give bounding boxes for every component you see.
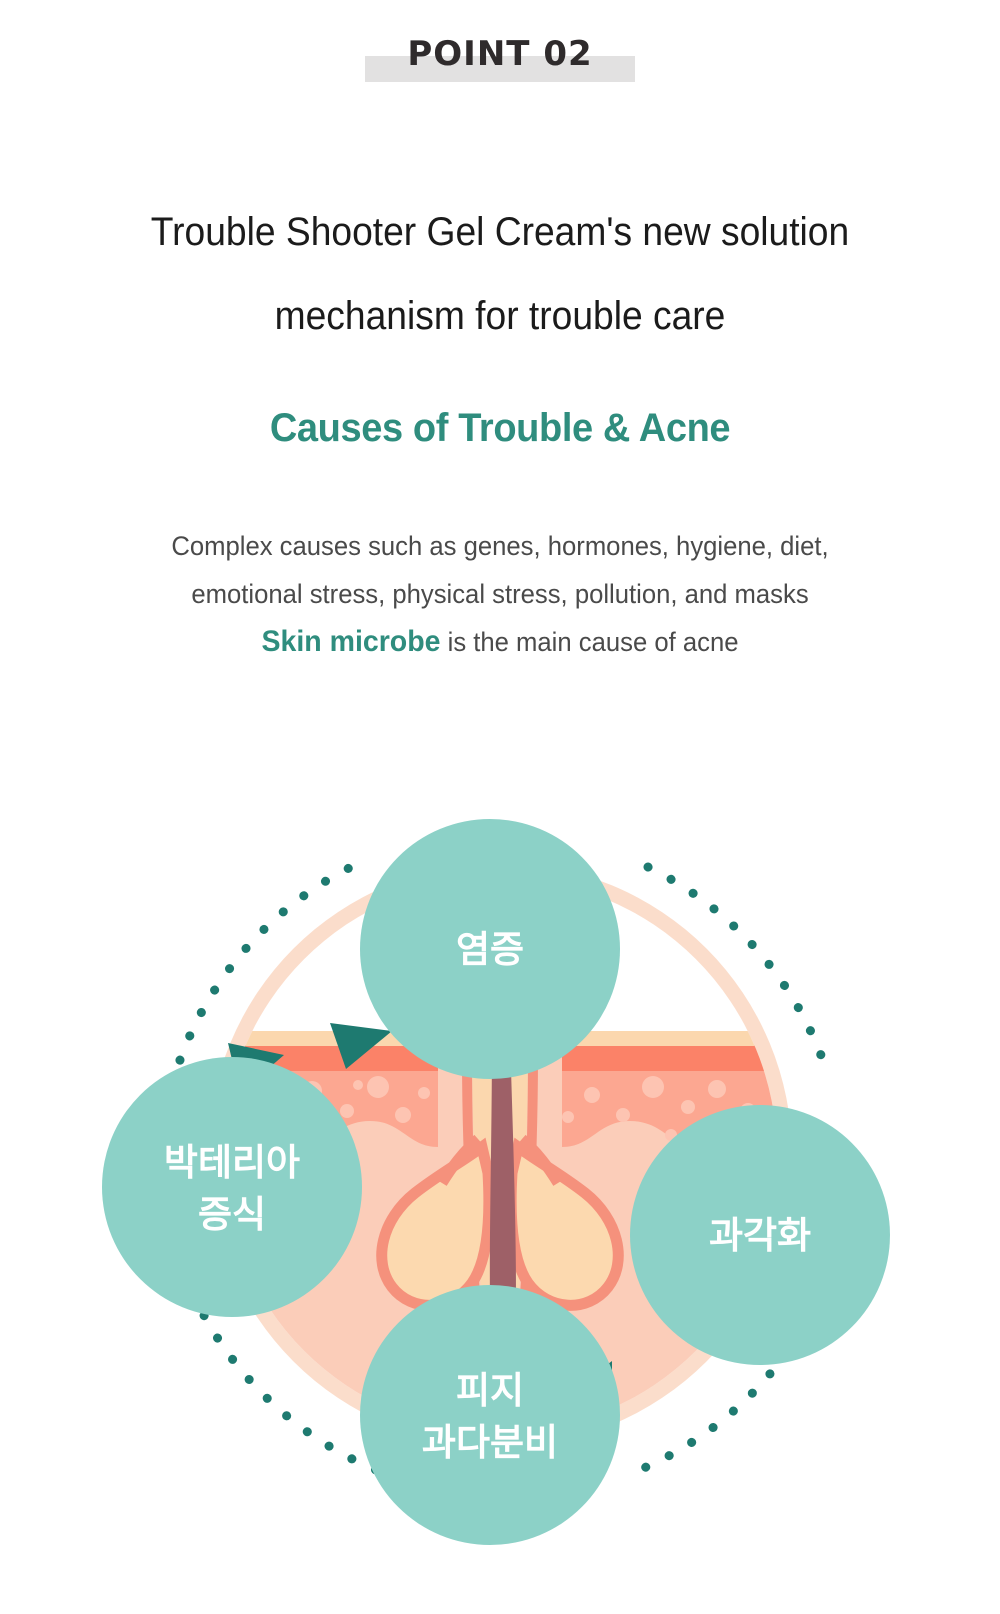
headline-line-2: mechanism for trouble care [35, 274, 965, 358]
cycle-node-left-label-2: 증식 [198, 1194, 266, 1235]
cycle-node-left-circle[interactable] [102, 1057, 362, 1317]
cycle-node-right[interactable]: 과각화 [630, 1105, 890, 1365]
point-label: POINT 02 [0, 34, 1000, 74]
point-badge: POINT 02 [0, 34, 1000, 94]
cycle-node-bottom-circle[interactable] [360, 1285, 620, 1545]
cycle-node-bottom[interactable]: 피지 과다분비 [360, 1285, 620, 1545]
body-line-1: Complex causes such as genes, hormones, … [25, 522, 975, 570]
headline-line-1: Trouble Shooter Gel Cream's new solution [35, 190, 965, 274]
cycle-node-top[interactable]: 염증 [360, 819, 620, 1079]
section-subtitle: Causes of Trouble & Acne [25, 406, 975, 451]
body-line-3-rest: is the main cause of acne [440, 627, 738, 657]
body-copy: Complex causes such as genes, hormones, … [25, 522, 975, 666]
page-headline: Trouble Shooter Gel Cream's new solution… [35, 190, 965, 358]
body-line-3: Skin microbe is the main cause of acne [25, 618, 975, 666]
cycle-node-top-label: 염증 [456, 929, 524, 970]
trouble-cycle-diagram: 염증 과각화 피지 과다분비 박테리아 증식 [100, 755, 900, 1545]
cycle-node-bottom-label-2: 과다분비 [422, 1422, 558, 1463]
cycle-node-right-label: 과각화 [709, 1215, 811, 1256]
cycle-node-left[interactable]: 박테리아 증식 [102, 1057, 362, 1317]
cycle-node-left-label-1: 박테리아 [164, 1142, 300, 1183]
cycle-node-bottom-label-1: 피지 [456, 1370, 524, 1411]
body-line-2: emotional stress, physical stress, pollu… [25, 570, 975, 618]
body-highlight-skin-microbe: Skin microbe [262, 625, 441, 658]
